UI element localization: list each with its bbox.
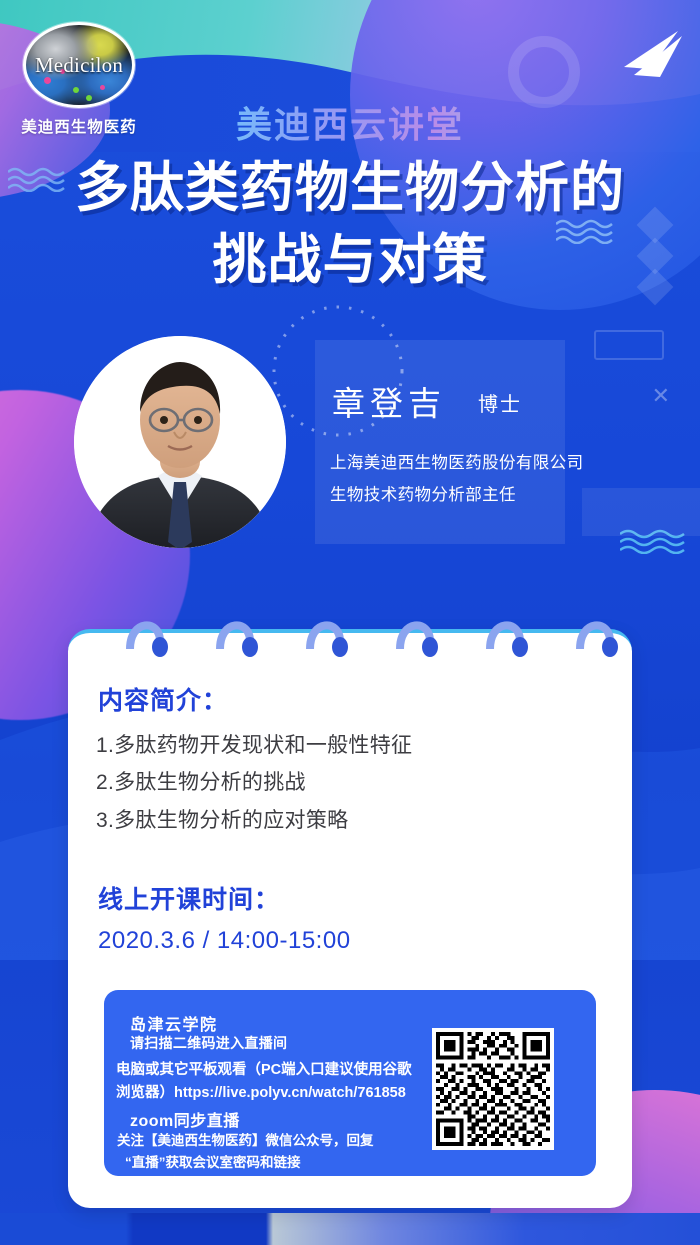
live-desc-line2[interactable]: 浏览器）https://live.polyv.cn/watch/761858 [116, 1082, 416, 1105]
page-title-line1: 多肽类药物生物分析的 [0, 152, 700, 224]
spiral-binder-icon [68, 607, 632, 667]
live-platform-subtitle: 请扫描二维码进入直播间 [130, 1033, 287, 1053]
speaker-org-line2: 生物技术药物分析部主任 [330, 480, 600, 512]
qr-code-image [436, 1032, 550, 1146]
page-title: 多肽类药物生物分析的 挑战与对策 [0, 152, 700, 297]
background-bottom-bar [0, 1213, 700, 1245]
speaker-portrait-image [74, 336, 286, 548]
agenda-heading: 内容简介： [98, 681, 228, 717]
rounded-rect-decoration [594, 330, 664, 360]
zoom-title: zoom同步直播 [130, 1107, 240, 1131]
speaker-avatar [74, 336, 286, 548]
agenda-list: 1.多肽药物开发现状和一般性特征 2.多肽生物分析的挑战 3.多肽生物分析的应对… [96, 727, 566, 839]
list-item: 1.多肽药物开发现状和一般性特征 [96, 727, 566, 764]
list-item: 2.多肽生物分析的挑战 [96, 764, 566, 801]
live-url-text: 电脑或其它平板观看（PC端入口建议使用谷歌 浏览器）https://live.p… [116, 1059, 416, 1106]
paper-plane-icon [620, 25, 690, 80]
speaker-organization: 上海美迪西生物医药股份有限公司 生物技术药物分析部主任 [330, 448, 600, 511]
wechat-instructions: 关注【美迪西生物医药】微信公众号，回复 “直播”获取会议室密码和链接 [117, 1130, 417, 1173]
wechat-line1: 关注【美迪西生物医药】微信公众号，回复 [117, 1130, 417, 1152]
series-subtitle: 美迪西云讲堂 [0, 96, 700, 148]
live-platform-title: 岛津云学院 [130, 1011, 218, 1035]
wechat-line2: “直播”获取会议室密码和链接 [117, 1152, 417, 1174]
list-item: 3.多肽生物分析的应对策略 [96, 802, 566, 839]
time-value: 2020.3.6 / 14:00-15:00 [98, 927, 351, 955]
logo-wordmark: Medicilon [35, 53, 123, 78]
speaker-info-panel [315, 340, 565, 544]
qr-code-icon[interactable] [432, 1028, 554, 1150]
webinar-poster: ✕ Medicilon 美迪西生物医药 美迪西云讲堂 多肽类药物生物分析的 挑战… [0, 0, 700, 1245]
speaker-degree: 博士 [478, 388, 522, 417]
speaker-name: 章登吉 [332, 377, 446, 425]
speaker-org-line1: 上海美迪西生物医药股份有限公司 [330, 448, 600, 480]
x-mark-icon: ✕ [652, 385, 670, 407]
time-heading: 线上开课时间： [98, 880, 280, 916]
page-title-line2: 挑战与对策 [0, 224, 700, 296]
live-desc-line1: 电脑或其它平板观看（PC端入口建议使用谷歌 [116, 1059, 416, 1082]
